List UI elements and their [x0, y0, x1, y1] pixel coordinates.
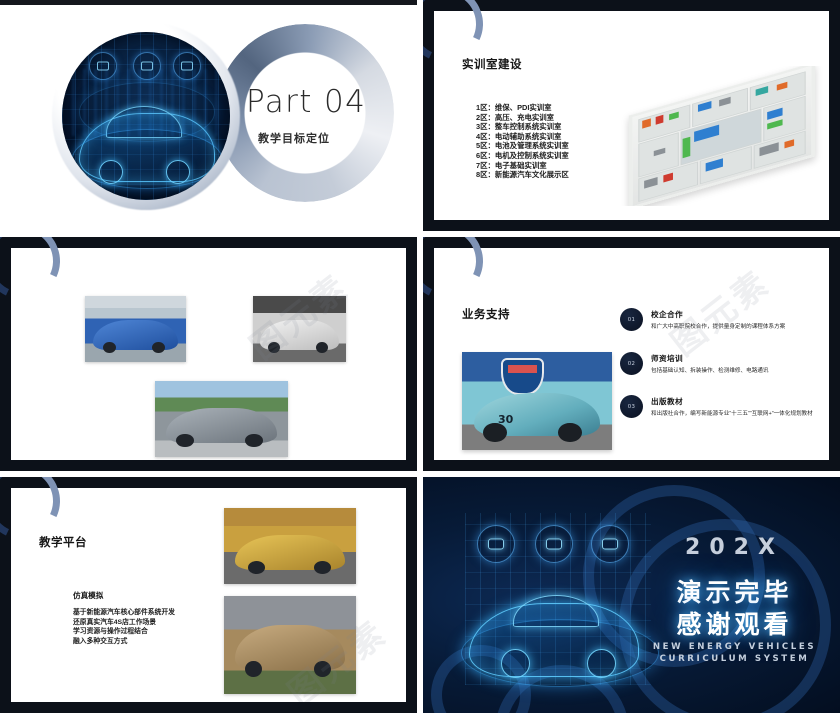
slide-title: 业务支持: [462, 306, 510, 322]
closing-line-2: 感谢观看: [423, 605, 840, 641]
slide-thumbnail-teaching-platform[interactable]: 教学平台 仿真模拟 基于新能源汽车核心部件系统开发 还原真实汽车4S店工作场景 …: [0, 477, 417, 713]
hologram-icon: [133, 52, 161, 80]
slide-thumbnail-lab-construction[interactable]: 实训室建设 1区：维保、PDI实训室 2区：高压、充电实训室 3区：整车控制系统…: [423, 0, 840, 231]
slide-canvas: 教学平台 仿真模拟 基于新能源汽车核心部件系统开发 还原真实汽车4S店工作场景 …: [11, 488, 406, 702]
vehicle-photo: [155, 381, 288, 457]
platform-feature-list: 基于新能源汽车核心部件系统开发 还原真实汽车4S店工作场景 学习资源与操作过程结…: [73, 608, 175, 646]
list-item: 8区：新能源汽车文化展示区: [476, 170, 569, 180]
slide-thumbnail-business-support[interactable]: 业务支持 30 01 校企合作 和广大中高职院校合作，提供量身定制的课程体系方案…: [423, 237, 840, 471]
vehicle-photo: [253, 296, 346, 362]
racing-car-photo: 30: [462, 352, 612, 450]
emblem-graphic: [501, 358, 544, 395]
item-body: 和广大中高职院校合作，提供量身定制的课程体系方案: [651, 322, 785, 330]
list-item: 7区：电子基础实训室: [476, 161, 569, 171]
vehicle-photo: [224, 508, 356, 584]
item-body: 包括基础认知、拆装操作、检测维修、电路通讯: [651, 366, 768, 374]
list-item: 3区：整车控制系统实训室: [476, 122, 569, 132]
lab-zone-list: 1区：维保、PDI实训室 2区：高压、充电实训室 3区：整车控制系统实训室 4区…: [476, 103, 569, 180]
lab-floorplan: [628, 66, 814, 206]
closing-line-1: 演示完毕: [423, 573, 840, 609]
slide-canvas: 实训室建设 1区：维保、PDI实训室 2区：高压、充电实训室 3区：整车控制系统…: [434, 11, 829, 220]
part-subtitle: 教学目标定位: [258, 130, 330, 146]
list-item: 2区：高压、充电实训室: [476, 113, 569, 123]
slide-title: 实训室建设: [462, 56, 522, 72]
slide-top-band: [0, 0, 417, 5]
list-item: 基于新能源汽车核心部件系统开发: [73, 608, 175, 618]
car-wheel: [558, 423, 582, 443]
list-item: 4区：电动辅助系统实训室: [476, 132, 569, 142]
item-body: 和出版社合作，编写新能源专业“十三五”“互联网+”一体化规划教材: [651, 409, 813, 417]
list-item: 1区：维保、PDI实训室: [476, 103, 569, 113]
slide-canvas: 业务支持 30 01 校企合作 和广大中高职院校合作，提供量身定制的课程体系方案…: [434, 248, 829, 460]
closing-english-line-2: CURRICULUM SYSTEM: [423, 654, 840, 664]
slide-thumbnail-vehicle-gallery[interactable]: 图元素: [0, 237, 417, 471]
car-wheel: [483, 423, 507, 443]
slide-thumbnail-part-divider[interactable]: Part 04 教学目标定位: [0, 0, 417, 231]
item-heading: 校企合作: [651, 309, 683, 320]
item-heading: 师资培训: [651, 353, 683, 364]
list-item: 学习资源与操作过程结合: [73, 627, 175, 637]
item-number-badge: 02: [620, 352, 643, 375]
list-item: 6区：电机及控制系统实训室: [476, 151, 569, 161]
lab-layout-image: [619, 66, 824, 206]
item-number-badge: 03: [620, 395, 643, 418]
hologram-ellipse: [72, 129, 222, 188]
item-number-badge: 01: [620, 308, 643, 331]
section-subheading: 仿真模拟: [73, 590, 103, 601]
list-item: 还原真实汽车4S店工作场景: [73, 618, 175, 628]
slide-canvas: 图元素: [11, 248, 406, 460]
list-item: 5区：电池及管理系统实训室: [476, 141, 569, 151]
hologram-icon: [89, 52, 117, 80]
hologram-icon: [173, 52, 201, 80]
part-title: Part 04: [246, 84, 366, 120]
slide-thumbnail-closing[interactable]: 202X 演示完毕 感谢观看 NEW ENERGY VEHICLES CURRI…: [423, 477, 840, 713]
slide-thumbnail-grid: Part 04 教学目标定位 实训室建设 1区：维保、PDI实训室 2区：高压、…: [0, 0, 840, 713]
hologram-car-image: [62, 32, 230, 200]
closing-english-line-1: NEW ENERGY VEHICLES: [423, 642, 840, 652]
vehicle-photo: [85, 296, 186, 362]
item-heading: 出版教材: [651, 396, 683, 407]
closing-year: 202X: [423, 535, 840, 560]
vehicle-photo: [224, 596, 356, 694]
list-item: 融入多种交互方式: [73, 637, 175, 647]
slide-title: 教学平台: [39, 534, 87, 550]
